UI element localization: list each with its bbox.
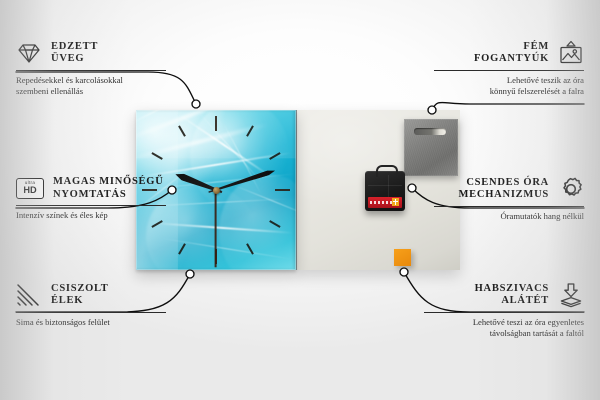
callout-polished-edges[interactable]: CSISZOLT ÉLEK Sima és biztonságos felüle… — [16, 282, 166, 328]
callout-divider — [434, 70, 584, 71]
callout-title: CSENDES ÓRA MECHANIZMUS — [458, 177, 549, 202]
callout-title: EDZETT ÜVEG — [51, 41, 98, 66]
metal-hanger-plate — [404, 119, 458, 176]
callout-divider — [424, 312, 584, 313]
callout-title: FÉM FOGANTYÚK — [474, 41, 549, 66]
callout-tempered-glass[interactable]: EDZETT ÜVEG Repedésekkel és karcolásokka… — [16, 40, 166, 96]
callout-title: HABSZIVACS ALÁTÉT — [475, 283, 549, 308]
callout-divider — [434, 206, 584, 207]
beveled-edge-icon — [16, 282, 42, 308]
picture-hanger-icon — [558, 40, 584, 66]
callout-divider — [16, 312, 166, 313]
callout-description: Intenzív színek és éles kép — [16, 210, 166, 221]
callout-title: CSISZOLT ÉLEK — [51, 283, 109, 308]
foam-pad-icon — [558, 282, 584, 308]
callout-metal-handles[interactable]: FÉM FOGANTYÚK Lehetővé teszik az óra kön… — [434, 40, 584, 96]
callout-description: Lehetővé teszi az óra egyenletes távolsá… — [424, 317, 584, 338]
mechanism-hook — [376, 165, 398, 177]
callout-description: Repedésekkel és karcolásokkal szembeni e… — [16, 75, 166, 96]
clock-mechanism — [365, 171, 405, 211]
battery-label — [368, 197, 402, 208]
callout-high-quality-print[interactable]: ultraHD MAGAS MINŐSÉGŰ NYOMTATÁS Intenzí… — [16, 176, 166, 221]
callout-divider — [16, 70, 166, 71]
callout-silent-mechanism[interactable]: CSENDES ÓRA MECHANIZMUS Óramutatók hang … — [434, 176, 584, 222]
ultra-hd-icon: ultraHD — [16, 178, 44, 199]
callout-description: Lehetővé teszik az óra könnyű felszerelé… — [434, 75, 584, 96]
infographic-canvas: EDZETT ÜVEG Repedésekkel és karcolásokka… — [0, 0, 600, 400]
callout-description: Óramutatók hang nélkül — [434, 211, 584, 222]
diamond-icon — [16, 40, 42, 66]
foam-spacer-pad — [394, 249, 411, 266]
callout-foam-spacer[interactable]: HABSZIVACS ALÁTÉT Lehetővé teszi az óra … — [424, 282, 584, 338]
gear-icon — [558, 176, 584, 202]
callout-description: Sima és biztonságos felület — [16, 317, 166, 328]
callout-title: MAGAS MINŐSÉGŰ NYOMTATÁS — [53, 176, 164, 201]
hanger-keyhole-slot — [414, 128, 446, 135]
callout-divider — [16, 205, 166, 206]
